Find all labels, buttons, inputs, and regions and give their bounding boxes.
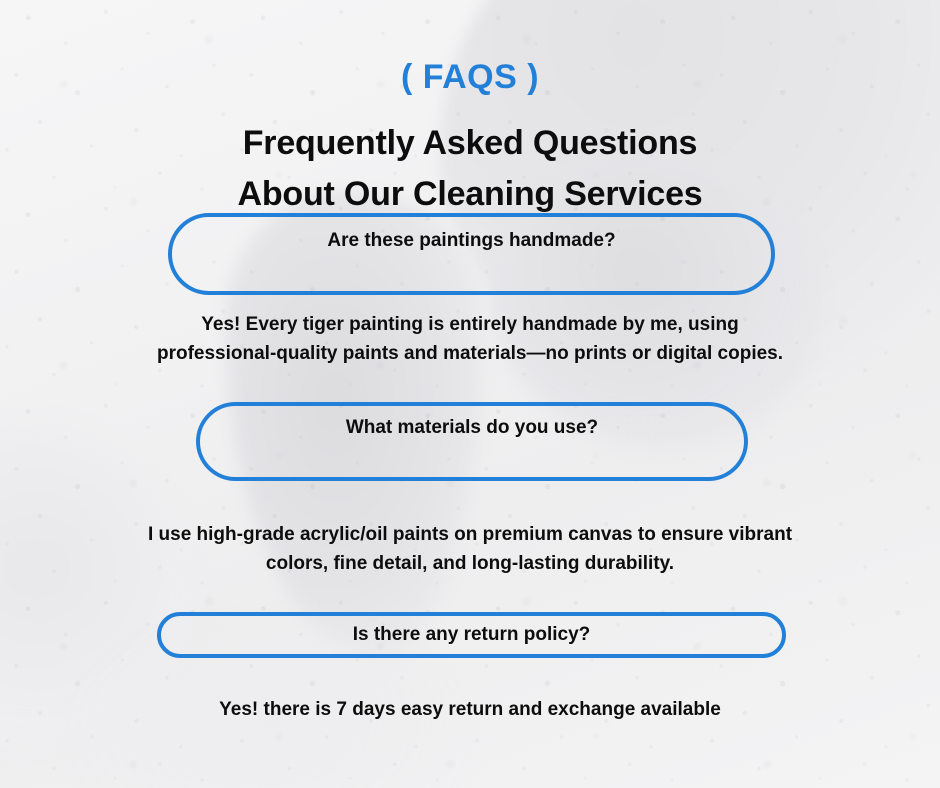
faq-question-1-label: Are these paintings handmade?	[309, 230, 633, 253]
faq-poster: ( FAQS ) Frequently Asked Questions Abou…	[0, 0, 940, 788]
eyebrow-label: ( FAQS )	[0, 60, 940, 94]
faq-answer-1: Yes! Every tiger painting is entirely ha…	[140, 311, 800, 369]
faq-answer-2: I use high-grade acrylic/oil paints on p…	[120, 521, 820, 579]
faq-answer-3: Yes! there is 7 days easy return and exc…	[140, 696, 800, 725]
faq-question-2-label: What materials do you use?	[328, 417, 616, 440]
page-title-line-1: Frequently Asked Questions	[0, 118, 940, 169]
faq-question-2[interactable]: What materials do you use?	[196, 402, 748, 481]
faq-question-3-label: Is there any return policy?	[335, 624, 609, 647]
page-title: Frequently Asked Questions About Our Cle…	[0, 118, 940, 220]
poster-content: ( FAQS ) Frequently Asked Questions Abou…	[0, 0, 940, 788]
faq-question-3[interactable]: Is there any return policy?	[157, 612, 786, 658]
faq-question-1[interactable]: Are these paintings handmade?	[168, 213, 775, 295]
